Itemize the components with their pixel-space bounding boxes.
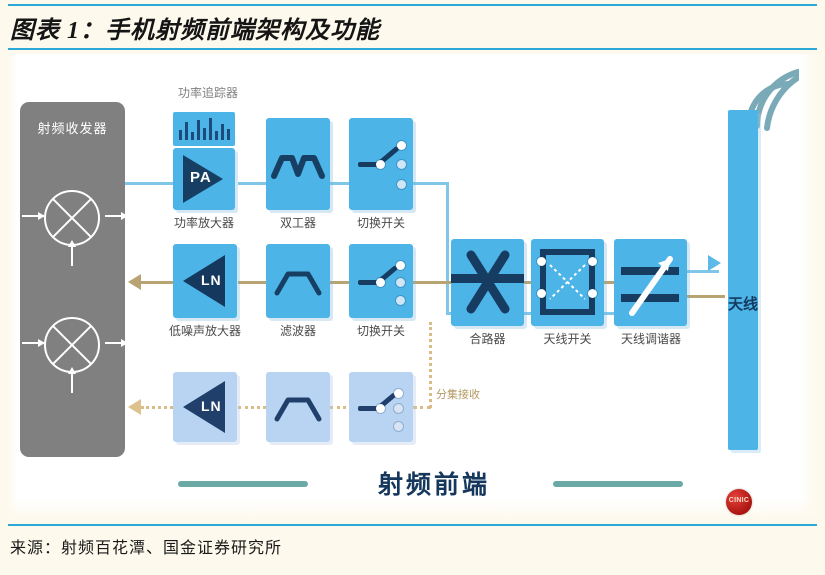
diversity-receive-label: 分集接收 — [436, 386, 480, 402]
label-tx-switch: 切换开关 — [349, 214, 413, 231]
label-antenna-switch: 天线开关 — [531, 330, 604, 347]
block-tx-switch[interactable] — [349, 118, 413, 210]
label-antenna-tuner: 天线调谐器 — [608, 330, 694, 347]
arrow-to-antenna — [708, 255, 721, 271]
block-low-noise-amplifier[interactable]: LN — [173, 244, 237, 318]
label-filter: 滤波器 — [266, 322, 330, 339]
pa-icon-text: PA — [190, 169, 212, 186]
source-note: 来源：射频百花潭、国金证券研究所 — [10, 534, 282, 564]
wire-switch-combiner — [413, 281, 451, 284]
block-antenna-switch[interactable] — [531, 239, 604, 326]
envelope-tracker-icon — [173, 112, 235, 146]
canvas-tint-bottom — [8, 498, 817, 520]
label-rx-switch: 切换开关 — [349, 322, 413, 339]
antenna-block[interactable]: 天线 — [728, 110, 758, 450]
wire-switch-out — [413, 182, 449, 185]
power-tracker-label: 功率追踪器 — [178, 84, 238, 101]
block-duplexer[interactable] — [266, 118, 330, 210]
block-power-amplifier[interactable]: PA — [173, 148, 235, 210]
bandpass-curve-icon — [274, 394, 322, 422]
top-divider — [8, 4, 817, 6]
block-filter[interactable] — [266, 244, 330, 318]
figure-page: 图表 1：手机射频前端架构及功能 射频收发器 功率追踪器 — [0, 0, 825, 575]
canvas-tint-right — [799, 54, 817, 520]
label-low-noise-amplifier: 低噪声放大器 — [158, 322, 252, 339]
block-diversity-lna[interactable]: LN — [173, 372, 237, 442]
bottom-divider — [8, 524, 817, 526]
mixer-icon — [35, 190, 111, 266]
wire-diversity-out — [141, 406, 173, 409]
diagram-canvas: 射频收发器 功率追踪器 PA — [8, 54, 817, 520]
bandpass-curve-icon — [274, 268, 322, 296]
wire-pa-duplexer — [238, 182, 266, 185]
watermark-logo: CINIC — [726, 489, 752, 515]
banner-title: 射频前端 — [378, 465, 490, 501]
label-power-amplifier: 功率放大器 — [163, 214, 245, 231]
wire-tx-in — [125, 182, 173, 185]
banner-line-left — [178, 481, 308, 487]
canvas-tint-left — [8, 54, 18, 520]
variable-tuner-arrow-icon — [624, 249, 680, 319]
page-title: 图表 1：手机射频前端架构及功能 — [10, 10, 815, 44]
watermark-logo-text: CINIC — [726, 497, 752, 504]
rf-transceiver-block: 射频收发器 — [20, 102, 125, 457]
label-duplexer: 双工器 — [266, 214, 330, 231]
rf-transceiver-label: 射频收发器 — [20, 118, 125, 137]
wire-switch-down — [446, 182, 449, 315]
diversity-lna-icon-text: LN — [201, 398, 222, 414]
crossbar-switch-icon — [540, 249, 595, 315]
wire-lna-filter — [238, 281, 266, 284]
block-combiner[interactable] — [451, 239, 524, 326]
duplexer-curves-icon — [272, 146, 324, 182]
arrow-diversity-to-transceiver — [128, 399, 141, 415]
block-diversity-switch[interactable] — [349, 372, 413, 442]
block-rx-switch[interactable] — [349, 244, 413, 318]
lna-icon-text: LN — [201, 272, 222, 288]
title-divider — [8, 48, 817, 50]
block-diversity-filter[interactable] — [266, 372, 330, 442]
antenna-label: 天线 — [728, 296, 758, 313]
wire-diversity-up — [429, 322, 432, 408]
block-antenna-tuner[interactable] — [614, 239, 687, 326]
label-combiner: 合路器 — [451, 330, 524, 347]
mixer-icon — [35, 317, 111, 393]
banner-line-right — [553, 481, 683, 487]
wire-div-lna-filter — [238, 406, 266, 409]
x-combiner-icon — [465, 251, 511, 313]
